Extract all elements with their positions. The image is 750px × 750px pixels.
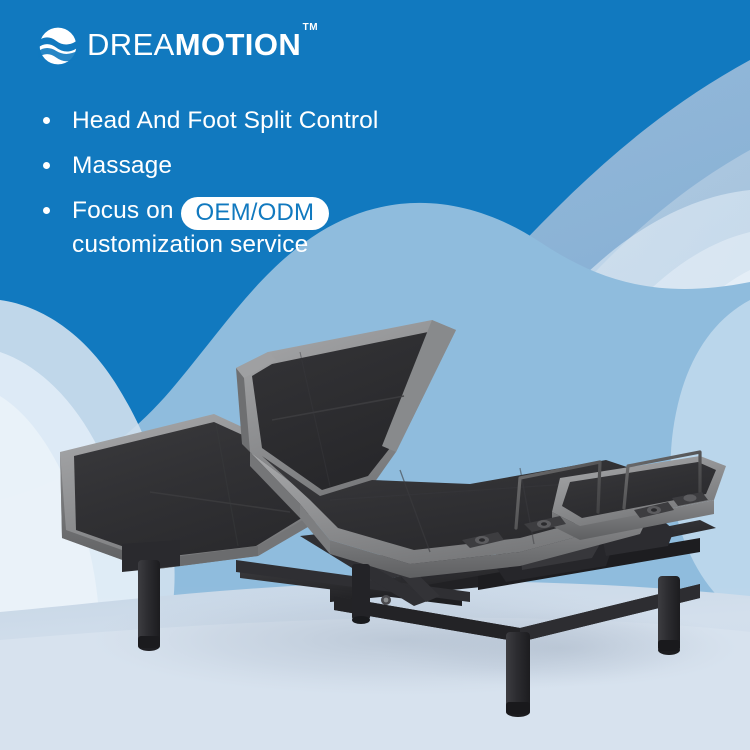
feature-item-2: Massage — [34, 149, 378, 182]
brand-wordmark: DREAMOTION TM — [87, 22, 301, 68]
brand-logo: DREAMOTION TM — [38, 22, 301, 68]
bullet-point-icon — [43, 162, 50, 169]
feature-suffix: customization service — [72, 228, 378, 261]
feature-label: Massage — [72, 152, 172, 179]
oem-odm-badge: OEM/ODM — [181, 197, 330, 230]
feature-label: Head And Foot Split Control — [72, 107, 378, 134]
trademark-symbol: TM — [303, 23, 318, 33]
feature-prefix: Focus on — [72, 197, 174, 224]
feature-item-1: Head And Foot Split Control — [34, 104, 378, 137]
bullet-point-icon — [43, 207, 50, 214]
wave-circle-logo-icon — [38, 26, 78, 66]
feature-list: Head And Foot Split Control Massage Focu… — [34, 104, 378, 261]
brand-name-bold: MOTION — [175, 27, 301, 62]
feature-item-3: Focus on OEM/ODM customization service — [34, 194, 378, 261]
brand-name-light: DREA — [87, 27, 175, 62]
product-poster: DREAMOTION TM Head And Foot Split Contro… — [0, 0, 750, 750]
bullet-point-icon — [43, 117, 50, 124]
